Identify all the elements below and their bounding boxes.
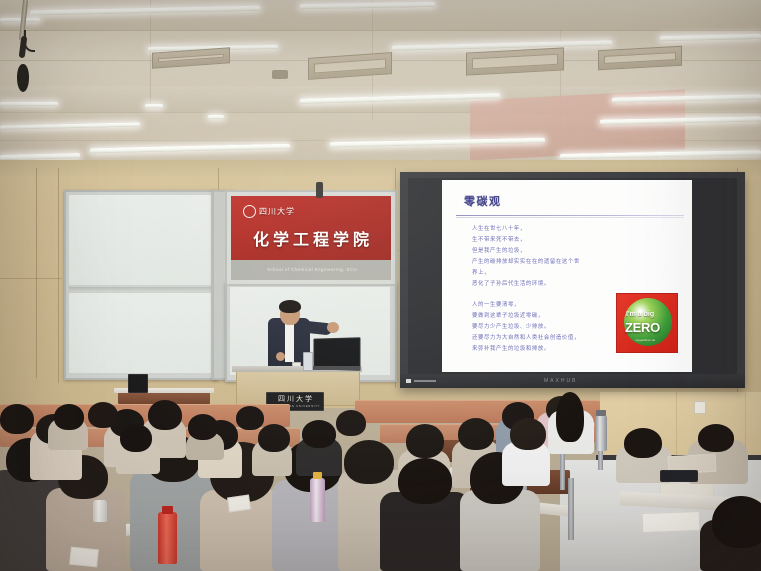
audience-head-6	[148, 400, 182, 430]
whiteboard[interactable]	[64, 190, 218, 380]
audience-head-18	[458, 418, 494, 450]
audience-head-13	[258, 424, 290, 452]
banner-school-name-en: School of Chemical Engineering, SCU	[267, 267, 357, 272]
audience-head-8	[0, 404, 34, 434]
presenter-device[interactable]	[303, 352, 313, 371]
speaker-hand	[327, 322, 339, 333]
whiteboard-panel-top[interactable]	[69, 195, 211, 285]
ceiling-light-9	[208, 115, 224, 119]
slide-body-line-1: 人生在世七八十年，	[472, 224, 526, 232]
phone-on-desk[interactable]	[660, 470, 698, 482]
speaker-hand-2	[276, 352, 285, 361]
notebook-3	[642, 511, 701, 533]
slide-content: 零碳观 人生在世七八十年， 生不带来死不带去， 但是我产生的垃圾， 产生的碳排放…	[442, 180, 692, 372]
display-chin: MAXHUB	[400, 374, 745, 388]
bag-on-table	[128, 374, 148, 393]
audience-head-29	[236, 406, 264, 430]
audience-head-16	[344, 440, 394, 484]
audience-head-27	[698, 424, 734, 452]
laptop-base	[306, 366, 360, 370]
speaker-hair	[279, 300, 301, 313]
banner-frame: 四川大学 化学工程学院 School of Chemical Engineeri…	[225, 190, 397, 286]
display-brand-label: MAXHUB	[544, 378, 577, 384]
ceiling-speaker	[272, 70, 288, 79]
lecture-hall-photo: 四川大学 化学工程学院 School of Chemical Engineeri…	[0, 0, 761, 571]
speaker-shirt	[285, 320, 294, 362]
audience-head-25	[712, 496, 761, 548]
ceiling-light-7	[0, 102, 58, 106]
display-sensor-strip	[414, 380, 436, 382]
wall-seam-2	[58, 168, 59, 383]
steel-thermos-cap	[596, 410, 606, 416]
hanging-microphone-icon	[17, 64, 29, 92]
slide-body2-line-3: 要尽力少产生垃圾、少排放。	[472, 322, 550, 330]
zero-logo-url: megacitizen.de	[635, 338, 655, 342]
slide-body2-line-4: 还要尽力为大自然和人类社会创造价值，	[472, 333, 580, 341]
whiteboard-panel-bottom[interactable]	[69, 293, 211, 373]
slide-title: 零碳观	[464, 193, 502, 209]
audience-head-14	[302, 420, 336, 448]
steel-thermos[interactable]	[595, 415, 607, 451]
beverage-bottle[interactable]	[310, 478, 325, 522]
slide-title-rule-2	[456, 217, 684, 218]
audience-head-28	[120, 424, 152, 452]
banner-school-name: 化学工程学院	[253, 226, 373, 250]
audience-head-7	[54, 404, 84, 430]
audience-head-30	[336, 410, 366, 436]
wall-seam-1	[36, 168, 37, 378]
slide-body-line-4: 产生的碳排放却实实在在的遗留在这个世	[472, 257, 580, 265]
display-power-led	[406, 379, 411, 383]
banner-university-name: 四川大学	[259, 206, 295, 217]
soft-drink-bottle[interactable]	[158, 512, 177, 564]
audience-head-23	[510, 418, 546, 450]
university-seal-icon	[243, 205, 256, 218]
department-banner: 四川大学 化学工程学院	[231, 196, 391, 260]
ceiling-light-8	[145, 104, 163, 108]
ceiling-seam-1	[0, 30, 761, 31]
audience-head-21	[398, 458, 452, 504]
zero-logo-line-2: ZERO	[625, 320, 660, 335]
zero-logo-line-1: I'm a big	[626, 311, 654, 318]
banner-subtitle-strip: School of Chemical Engineering, SCU	[231, 260, 391, 280]
slide-body-line-3: 但是我产生的垃圾，	[472, 246, 526, 254]
slide-body-line-6: 恶化了子孙后代生活的环境。	[472, 279, 550, 287]
whiteboard-rail	[69, 287, 211, 292]
drinking-cup[interactable]	[93, 500, 107, 522]
beverage-bottle-cap	[313, 472, 322, 479]
audience-head-24	[556, 392, 584, 442]
audience-head-26	[624, 428, 662, 458]
wall-hseam-1	[0, 278, 62, 279]
audience-head-17	[406, 424, 444, 458]
slide-title-rule	[456, 215, 684, 216]
presentation-display[interactable]: 零碳观 人生在世七八十年， 生不带来死不带去， 但是我产生的垃圾， 产生的碳排放…	[400, 172, 745, 388]
desk-leg-4	[568, 478, 574, 540]
soft-drink-bottle-cap	[162, 506, 173, 514]
podium-plaque-cn: 四川大学	[278, 394, 314, 404]
light-switch[interactable]	[694, 401, 706, 414]
slide-body2-line-2: 要做到这辈子垃圾近零碳，	[472, 311, 544, 319]
tissue	[227, 495, 251, 513]
slide-body2-line-1: 人的一生要清零，	[472, 300, 520, 308]
tissue-pack	[69, 547, 99, 568]
slide-body2-line-5: 来弥补我产生的垃圾和排放。	[472, 344, 550, 352]
audience-head-15	[188, 414, 218, 440]
ceiling-cable-drop	[316, 182, 323, 198]
audience-head-9	[88, 402, 118, 428]
ceiling-seam-v1	[150, 0, 151, 105]
slide-body-line-2: 生不带来死不带去，	[472, 235, 526, 243]
zero-logo: I'm a big ZERO megacitizen.de	[616, 293, 678, 353]
side-wall-seam-1	[676, 392, 677, 458]
slide-body-line-5: 界上，	[472, 268, 490, 276]
